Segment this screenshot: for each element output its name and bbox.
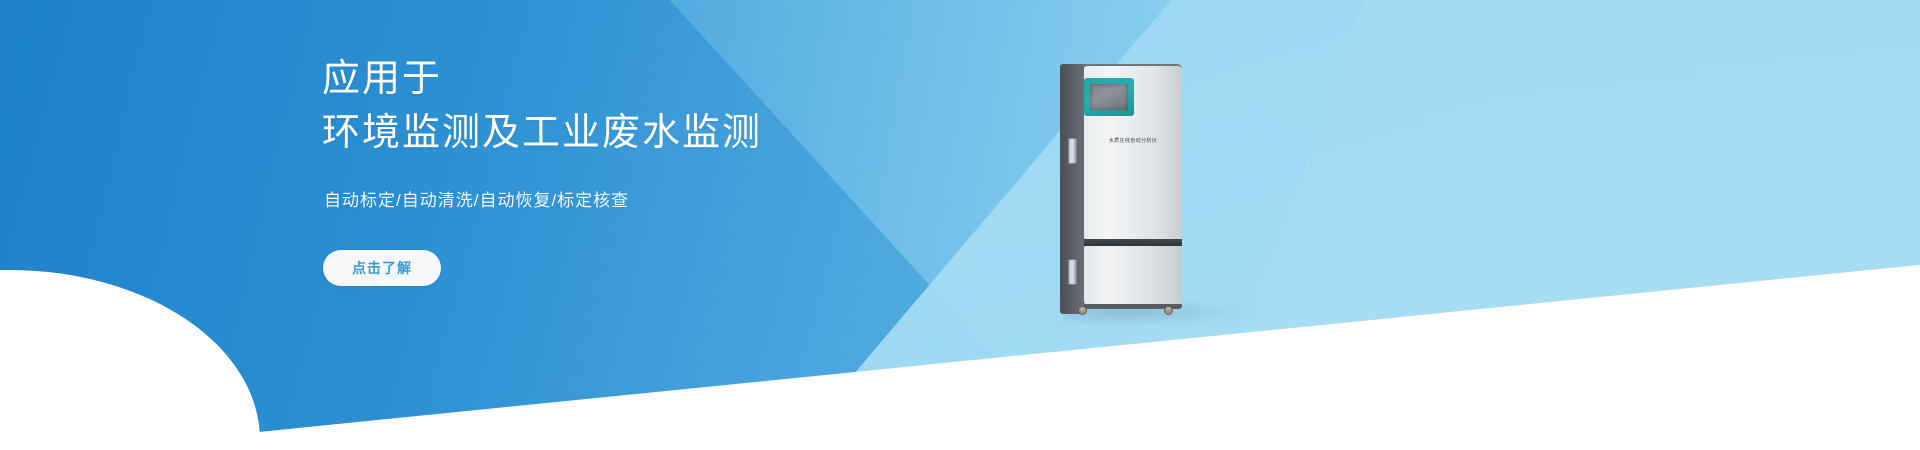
learn-more-button[interactable]: 点击了解 [323, 250, 441, 286]
product-label: 水质在线自动分析仪 [1084, 137, 1182, 144]
product-image-water-quality-analyzer: 水质在线自动分析仪 [1060, 64, 1182, 314]
product-lower-cabinet [1084, 246, 1182, 306]
product-caster-right [1164, 306, 1173, 315]
banner-headline: 应用于 环境监测及工业废水监测 [322, 52, 762, 160]
product-cabinet-divider [1084, 239, 1182, 246]
product-lower-door-handle [1068, 259, 1077, 285]
product-display-screen [1090, 84, 1128, 110]
banner-content: 应用于 环境监测及工业废水监测 自动标定/自动清洗/自动恢复/标定核查 点击了解 [322, 0, 1042, 450]
product-upper-door-handle [1068, 138, 1077, 164]
product-caster-left [1078, 306, 1087, 315]
headline-line-2: 环境监测及工业废水监测 [322, 106, 762, 160]
banner-subtitle: 自动标定/自动清洗/自动恢复/标定核查 [324, 186, 629, 211]
hero-banner: 应用于 环境监测及工业废水监测 自动标定/自动清洗/自动恢复/标定核查 点击了解… [0, 0, 1920, 450]
product-screen-bezel [1084, 78, 1134, 116]
headline-line-1: 应用于 [322, 58, 442, 100]
